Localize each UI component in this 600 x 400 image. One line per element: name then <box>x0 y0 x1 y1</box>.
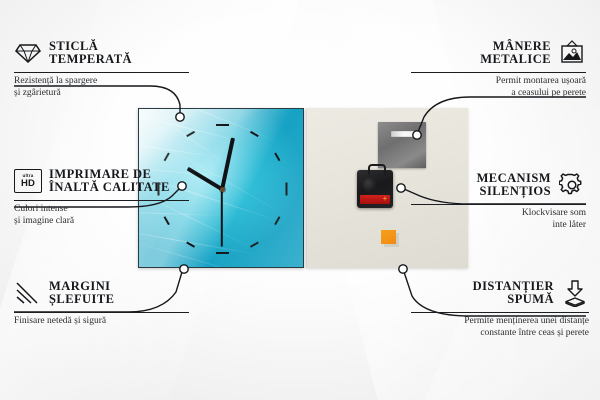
feature-title: MÂNERE METALICE <box>480 40 551 67</box>
feature-header: ultra HD IMPRIMARE DE ÎNALTĂ CALITATE <box>14 166 189 196</box>
feature-divider <box>411 72 586 73</box>
clock-tick <box>164 153 170 162</box>
feature-divider <box>14 72 189 73</box>
clock-second-hand <box>221 189 223 247</box>
feature-tempered-glass: STICLĂ TEMPERATĂ Rezistență la spargere … <box>14 38 189 99</box>
feature-description: Culori intense și imagine clară <box>14 204 189 227</box>
feature-header: MARGINI ȘLEFUITE <box>14 278 189 308</box>
clock-tick <box>216 124 229 126</box>
feature-header: MECANISM SILENȚIOS <box>411 170 586 200</box>
clock-hand-cap <box>220 187 225 192</box>
clock-tick <box>250 241 259 247</box>
feature-foam-spacer: DISTANȚIER SPUMĂ Permite menținerea unei… <box>411 278 589 339</box>
feature-header: STICLĂ TEMPERATĂ <box>14 38 189 68</box>
feature-title: MECANISM SILENȚIOS <box>477 172 551 199</box>
feature-high-quality-print: ultra HD IMPRIMARE DE ÎNALTĂ CALITATE Cu… <box>14 166 189 227</box>
feature-title: IMPRIMARE DE ÎNALTĂ CALITATE <box>49 168 170 195</box>
beveled-edge-icon <box>14 279 42 307</box>
clock-tick <box>216 252 229 254</box>
clock-hour-hand <box>187 167 223 191</box>
infographic-canvas: + <box>0 0 600 400</box>
clock-mechanism: + <box>357 170 393 208</box>
clock-tick <box>274 217 280 226</box>
mechanism-time-set-dial <box>363 178 377 192</box>
feature-title: MARGINI ȘLEFUITE <box>49 280 114 307</box>
hanger-slot <box>391 131 415 137</box>
dial-fibre <box>138 113 213 122</box>
feature-description: Permit montarea ușoară a ceasului pe per… <box>411 76 586 99</box>
picture-frame-icon <box>558 39 586 67</box>
feature-description: Rezistență la spargere și zgârietură <box>14 76 189 99</box>
feature-title: STICLĂ TEMPERATĂ <box>49 40 132 67</box>
feature-divider <box>14 312 189 313</box>
clock-tick <box>186 131 195 137</box>
feature-description: Permite menținerea unei distanțe constan… <box>411 316 589 339</box>
clock-tick <box>274 153 280 162</box>
feature-divider <box>411 204 586 205</box>
mechanism-hanging-loop <box>368 164 386 175</box>
metal-hanger-plate <box>378 122 426 168</box>
feature-description: Finisare netedă și sigură <box>14 316 189 328</box>
feature-header: MÂNERE METALICE <box>411 38 586 68</box>
foam-spacer <box>381 230 396 244</box>
battery-plus-icon: + <box>382 196 388 202</box>
feature-divider <box>14 200 189 201</box>
feature-silent-mechanism: MECANISM SILENȚIOS Klockvisare som inte … <box>411 170 586 231</box>
feature-description: Klockvisare som inte låter <box>411 208 586 231</box>
gear-icon <box>558 171 586 199</box>
battery: + <box>360 195 390 204</box>
arrow-into-pad-icon <box>561 279 589 307</box>
clock-tick <box>285 183 287 196</box>
ultra-hd-icon: ultra HD <box>14 167 42 195</box>
feature-polished-edges: MARGINI ȘLEFUITE Finisare netedă și sigu… <box>14 278 189 328</box>
feature-metal-handles: MÂNERE METALICE Permit montarea ușoară a… <box>411 38 586 99</box>
diamond-icon <box>14 39 42 67</box>
feature-title: DISTANȚIER SPUMĂ <box>473 280 554 307</box>
feature-divider <box>411 312 589 313</box>
feature-header: DISTANȚIER SPUMĂ <box>411 278 589 308</box>
